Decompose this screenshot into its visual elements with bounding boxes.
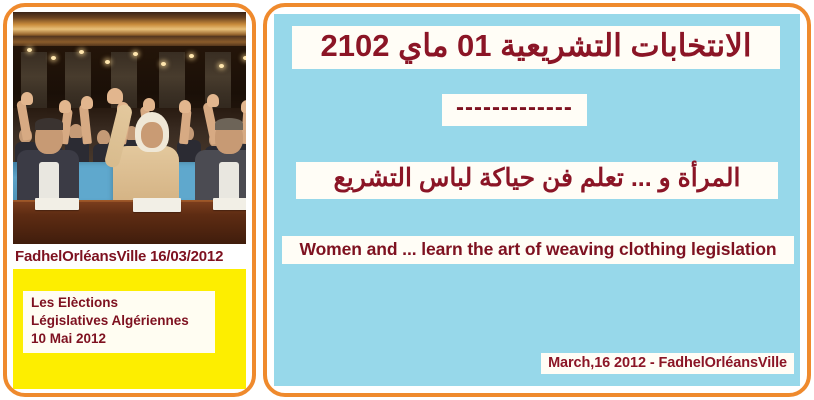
photo-delegate-right: [195, 104, 246, 208]
photo-delegate-hair: [35, 118, 63, 130]
poster-root: FadhelOrléansVille 16/03/2012 Les Elècti…: [0, 0, 814, 400]
yellow-note-text: Les Elèctions Législatives Algériennes 1…: [23, 291, 215, 353]
photo-ceiling-light: [189, 54, 194, 58]
algerian-parliament-vote-photo: [13, 12, 246, 244]
photo-ceiling-light: [161, 62, 166, 66]
photo-ceiling-light: [243, 56, 246, 60]
photo-desk-paper: [133, 198, 181, 212]
photo-raised-hand: [81, 96, 93, 109]
photo-ceiling-light: [219, 64, 224, 68]
english-subtitle: Women and ... learn the art of weaving c…: [284, 239, 792, 260]
arabic-title: الانتخابات التشريعية 10 ماي 2012: [296, 29, 776, 63]
photo-delegate-hair: [215, 118, 243, 130]
photo-caption: FadhelOrléansVille 16/03/2012: [13, 244, 246, 268]
credit-text: March,16 2012 - FadhelOrléansVille: [548, 355, 787, 371]
arabic-subtitle: المرأة و ... تعلم فن حياكة لباس التشريع: [300, 164, 774, 193]
photo-delegate-raised-hand: [107, 88, 123, 104]
yellow-note-line-1: Les Elèctions: [31, 294, 189, 312]
photo-desk-paper: [213, 198, 246, 210]
photo-desk-paper: [35, 198, 79, 210]
divider-dashes: -------------: [456, 96, 573, 120]
photo-ceiling-light: [27, 48, 32, 52]
arabic-subtitle-band: المرأة و ... تعلم فن حياكة لباس التشريع: [296, 162, 778, 199]
photo-ceiling-light: [51, 56, 56, 60]
photo-ceiling-light: [79, 50, 84, 54]
photo-ceiling-light: [105, 60, 110, 64]
yellow-note-line-3: 10 Mai 2012: [31, 330, 189, 348]
photo-ceiling-light: [133, 52, 138, 56]
left-panel: FadhelOrléansVille 16/03/2012 Les Elècti…: [3, 3, 256, 397]
right-panel: الانتخابات التشريعية 10 ماي 2012 -------…: [263, 3, 811, 397]
photo-delegate-left: [17, 104, 81, 208]
right-panel-inner: الانتخابات التشريعية 10 ماي 2012 -------…: [274, 14, 800, 386]
photo-delegate-woman: [109, 88, 185, 208]
yellow-note-line-2: Législatives Algériennes: [31, 312, 189, 330]
left-panel-inner: FadhelOrléansVille 16/03/2012 Les Elècti…: [7, 7, 252, 393]
photo-ceiling: [13, 12, 246, 38]
divider-band: -------------: [442, 94, 587, 126]
photo-delegate-face: [141, 122, 163, 148]
arabic-title-band: الانتخابات التشريعية 10 ماي 2012: [292, 26, 780, 69]
credit-band: March,16 2012 - FadhelOrléansVille: [541, 353, 794, 374]
english-subtitle-band: Women and ... learn the art of weaving c…: [282, 236, 794, 264]
yellow-note-box: Les Elèctions Législatives Algériennes 1…: [13, 269, 246, 389]
